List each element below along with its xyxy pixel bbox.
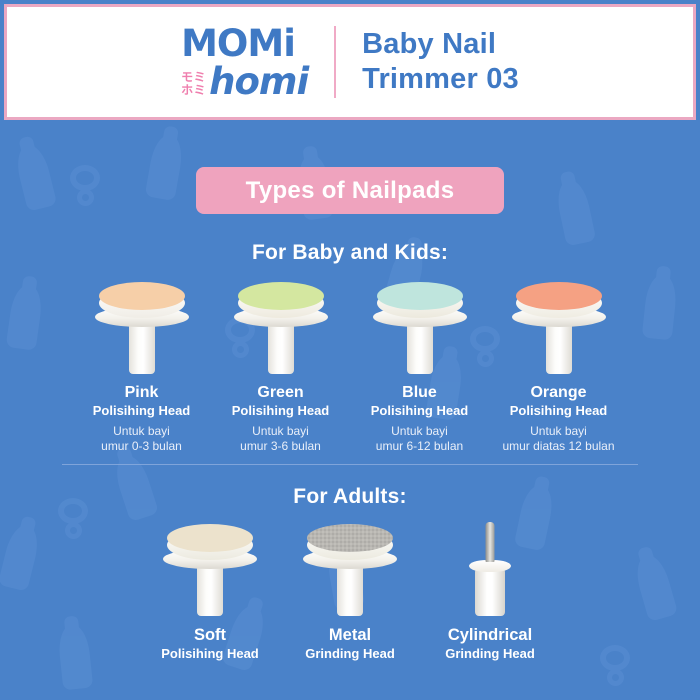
- header-bar: MOMi モミ ホミ homi Baby Nail Trimmer 03: [4, 4, 696, 120]
- product-note: Untuk bayi umur diatas 12 bulan: [502, 424, 614, 453]
- page-title: Baby Nail Trimmer 03: [362, 27, 519, 98]
- nailpad-icon: [87, 278, 197, 374]
- product-note-line2: umur 6-12 bulan: [376, 439, 463, 454]
- product-note-line1: Untuk bayi: [101, 424, 182, 439]
- section-divider: [62, 464, 638, 465]
- product-note: Untuk bayi umur 0-3 bulan: [101, 424, 182, 453]
- nailpad-icon: [435, 520, 545, 616]
- pad-surface: [99, 282, 185, 310]
- product-name: Green: [257, 384, 303, 402]
- adults-product-row: Soft Polisihing Head Metal Grinding Head…: [0, 520, 700, 661]
- nailpad-icon: [504, 278, 614, 374]
- pad-surface: [238, 282, 324, 310]
- product-type: Grinding Head: [305, 646, 395, 661]
- pad-surface: [516, 282, 602, 310]
- grinding-rod: [486, 522, 495, 562]
- kids-product-row: Pink Polisihing Head Untuk bayi umur 0-3…: [0, 278, 700, 453]
- product-type: Grinding Head: [445, 646, 535, 661]
- product-type: Polisihing Head: [232, 403, 330, 418]
- product-name: Blue: [402, 384, 437, 402]
- pad-surface: [377, 282, 463, 310]
- product-card-blue: Blue Polisihing Head Untuk bayi umur 6-1…: [350, 278, 489, 453]
- product-card-pink: Pink Polisihing Head Untuk bayi umur 0-3…: [72, 278, 211, 453]
- product-note-line1: Untuk bayi: [240, 424, 321, 439]
- logo-kana: モミ ホミ: [181, 71, 206, 99]
- product-note: Untuk bayi umur 3-6 bulan: [240, 424, 321, 453]
- pad-surface: [167, 524, 253, 552]
- types-banner: Types of Nailpads: [196, 167, 504, 214]
- infographic-page: MOMi モミ ホミ homi Baby Nail Trimmer 03 Typ…: [0, 0, 700, 700]
- product-card-soft: Soft Polisihing Head: [140, 520, 280, 661]
- rattle-icon: [70, 165, 100, 209]
- product-note-line1: Untuk bayi: [502, 424, 614, 439]
- bottle-icon: [145, 133, 186, 201]
- section-heading-kids: For Baby and Kids:: [0, 241, 700, 265]
- product-note-line2: umur 0-3 bulan: [101, 439, 182, 454]
- product-card-green: Green Polisihing Head Untuk bayi umur 3-…: [211, 278, 350, 453]
- product-card-orange: Orange Polisihing Head Untuk bayi umur d…: [489, 278, 628, 453]
- product-type: Polisihing Head: [93, 403, 191, 418]
- section-heading-adults: For Adults:: [0, 485, 700, 509]
- product-card-metal: Metal Grinding Head: [280, 520, 420, 661]
- product-name: Soft: [194, 626, 226, 645]
- logo-text-homi: homi: [209, 63, 308, 100]
- product-note: Untuk bayi umur 6-12 bulan: [376, 424, 463, 453]
- product-type: Polisihing Head: [371, 403, 469, 418]
- header-divider: [334, 26, 336, 98]
- logo-kana-line2: ホミ: [181, 84, 206, 97]
- product-note-line2: umur diatas 12 bulan: [502, 439, 614, 454]
- brand-logo: MOMi モミ ホミ homi: [181, 25, 308, 100]
- product-name: Pink: [125, 384, 159, 402]
- bottle-icon: [554, 178, 597, 247]
- product-note-line1: Untuk bayi: [376, 424, 463, 439]
- product-name: Metal: [329, 626, 371, 645]
- pad-surface: [307, 524, 393, 552]
- product-card-cylindrical: Cylindrical Grinding Head: [420, 520, 560, 661]
- nailpad-icon: [226, 278, 336, 374]
- product-note-line2: umur 3-6 bulan: [240, 439, 321, 454]
- nailpad-icon: [155, 520, 265, 616]
- logo-text-momi: MOMi: [181, 25, 295, 62]
- product-name: Orange: [530, 384, 586, 402]
- nailpad-icon: [365, 278, 475, 374]
- types-banner-label: Types of Nailpads: [246, 177, 455, 205]
- product-name: Cylindrical: [448, 626, 532, 645]
- page-title-line1: Baby Nail: [362, 27, 519, 62]
- nailpad-icon: [295, 520, 405, 616]
- product-type: Polisihing Head: [161, 646, 259, 661]
- product-type: Polisihing Head: [510, 403, 608, 418]
- bottle-icon: [13, 142, 58, 211]
- page-title-line2: Trimmer 03: [362, 62, 519, 97]
